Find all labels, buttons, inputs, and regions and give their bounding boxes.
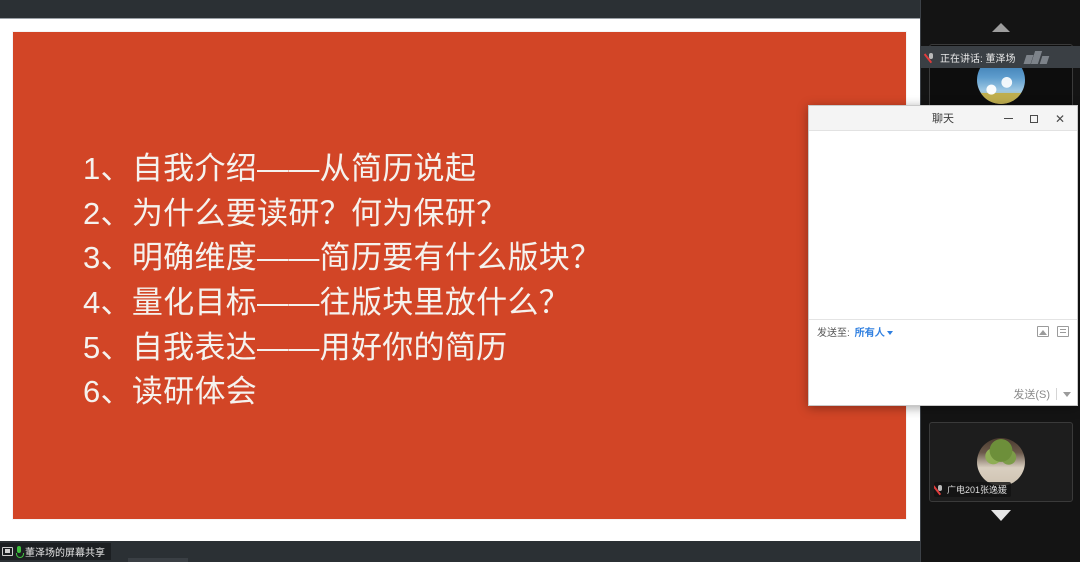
participant-tile[interactable]: 广电201张逸媛 [929,422,1073,502]
send-button[interactable]: 发送(S) [1013,386,1050,402]
taskbar-screenshare-item[interactable]: 董泽场的屏幕共享 [0,543,111,560]
slide-line: 3、明确维度——简历要有什么版块？ [83,236,886,281]
presentation-slide: 1、自我介绍——从简历说起 2、为什么要读研？何为保研？ 3、明确维度——简历要… [13,32,906,519]
slide-line: 1、自我介绍——从简历说起 [83,147,886,192]
divider [1056,388,1057,400]
chevron-down-icon [991,510,1011,521]
taskbar-thumbnail-strip [128,558,188,562]
slide-line: 4、量化目标——往版块里放什么？ [83,281,886,326]
os-taskbar: 董泽场的屏幕共享 [0,541,920,562]
maximize-button[interactable] [1021,106,1047,131]
active-speaker-banner: 正在讲话: 董泽场 [921,46,1080,68]
plant-avatar-image [977,438,1025,486]
monitor-icon [2,547,13,556]
slide-canvas: 1、自我介绍——从简历说起 2、为什么要读研？何为保研？ 3、明确维度——简历要… [0,20,920,541]
slide-line: 2、为什么要读研？何为保研？ [83,192,886,237]
chat-window-title: 聊天 [932,110,954,126]
slide-agenda-list: 1、自我介绍——从简历说起 2、为什么要读研？何为保研？ 3、明确维度——简历要… [83,147,886,415]
participant-name-badge: 广电201张逸媛 [934,482,1011,497]
chat-message-list[interactable] [809,131,1077,319]
mic-muted-icon [927,52,935,63]
mic-muted-icon [936,484,944,495]
send-to-dropdown[interactable]: 所有人 [855,324,893,339]
minimize-icon [1004,118,1013,119]
filmstrip-scroll-up-button[interactable] [921,10,1080,44]
participant-name: 广电201张逸媛 [947,483,1007,496]
chevron-up-icon [992,23,1010,32]
shared-screen-region: 1、自我介绍——从简历说起 2、为什么要读研？何为保研？ 3、明确维度——简历要… [0,0,920,562]
taskbar-item-label: 董泽场的屏幕共享 [25,544,105,559]
chevron-down-icon [887,331,893,335]
chat-titlebar[interactable]: 聊天 ✕ [809,106,1077,131]
send-to-label: 发送至: [817,324,850,339]
slide-line: 6、读研体会 [83,370,886,415]
maximize-icon [1030,115,1038,123]
image-icon[interactable] [1037,326,1049,337]
active-speaker-label: 正在讲话: 董泽场 [940,50,1016,65]
chat-input-area: 发送(S) [809,343,1077,405]
minimize-button[interactable] [995,106,1021,131]
filmstrip-scroll-down-button[interactable] [921,498,1080,532]
slide-line: 5、自我表达——用好你的简历 [83,326,886,371]
audio-wave-icon [1025,51,1048,64]
file-icon[interactable] [1057,326,1069,337]
chat-window: 聊天 ✕ 发送至: 所有人 [808,105,1078,406]
meeting-screen: 1、自我介绍——从简历说起 2、为什么要读研？何为保研？ 3、明确维度——简历要… [0,0,1080,562]
chevron-down-icon[interactable] [1063,392,1071,397]
microphone-icon [16,546,22,557]
send-to-value: 所有人 [855,328,885,339]
remote-desktop-top-bar [0,0,920,19]
close-button[interactable]: ✕ [1047,106,1073,131]
chat-input[interactable] [809,343,1077,383]
avatar [977,438,1025,486]
chat-recipient-bar: 发送至: 所有人 [809,319,1077,343]
window-controls: ✕ [995,106,1073,131]
chat-attachment-icons [1037,326,1069,337]
chat-send-row: 发送(S) [1013,386,1071,402]
